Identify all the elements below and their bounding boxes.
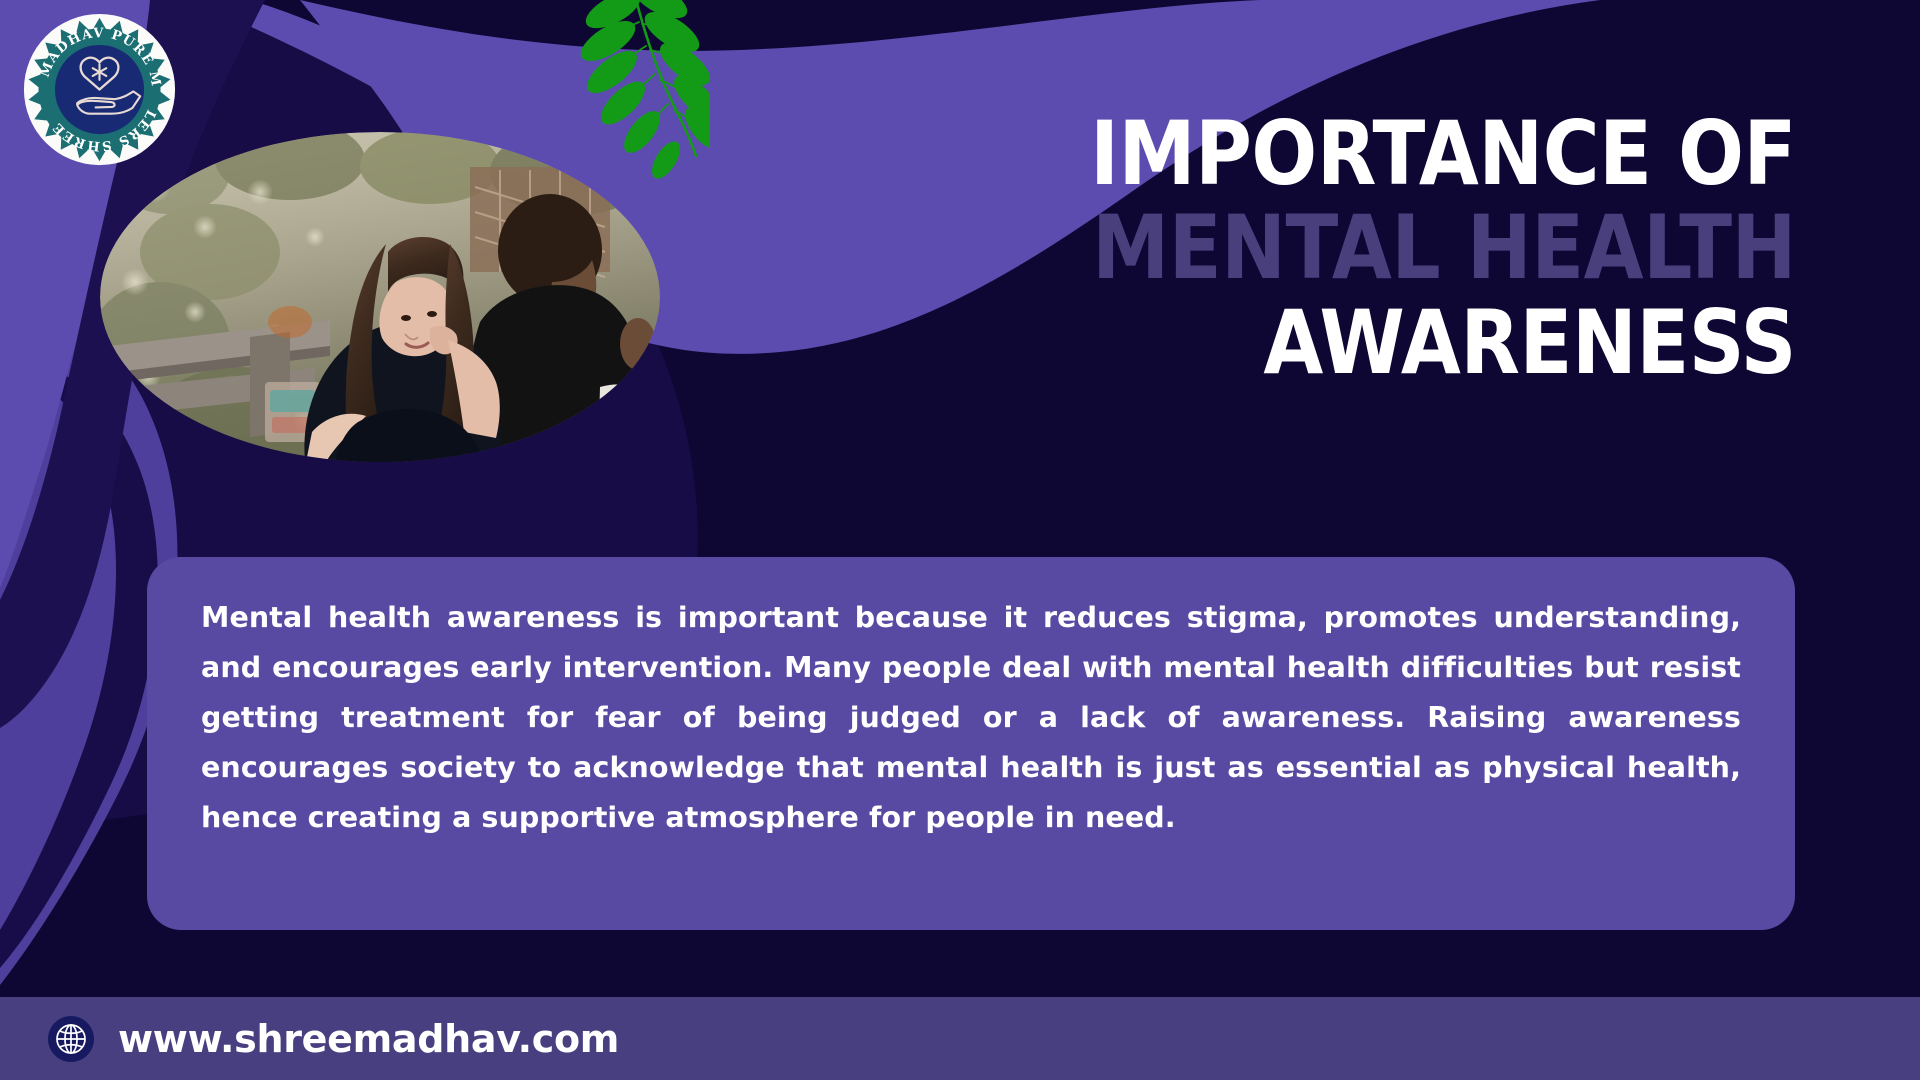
logo-badge: MADHAV PURE MIND HEA LERS SHREE (functio… [22,12,177,167]
globe-icon [48,1016,94,1062]
leaf-branch-decoration [500,0,710,184]
headline-block: IMPORTANCE OF MENTAL HEALTH AWARENESS [956,112,1796,385]
footer-bar: www.shreemadhav.com [0,997,1920,1080]
headline-line-1: IMPORTANCE OF [1057,112,1796,196]
body-paragraph: Mental health awareness is important bec… [201,593,1741,843]
feature-photo [100,132,660,462]
headline-line-2: MENTAL HEALTH [1057,206,1796,290]
body-text-panel: Mental health awareness is important bec… [147,557,1795,930]
headline-line-3: AWARENESS [1057,301,1796,385]
poster-canvas: MADHAV PURE MIND HEA LERS SHREE (functio… [0,0,1920,1080]
website-url[interactable]: www.shreemadhav.com [118,1017,619,1061]
navy-left-divider [0,367,158,968]
